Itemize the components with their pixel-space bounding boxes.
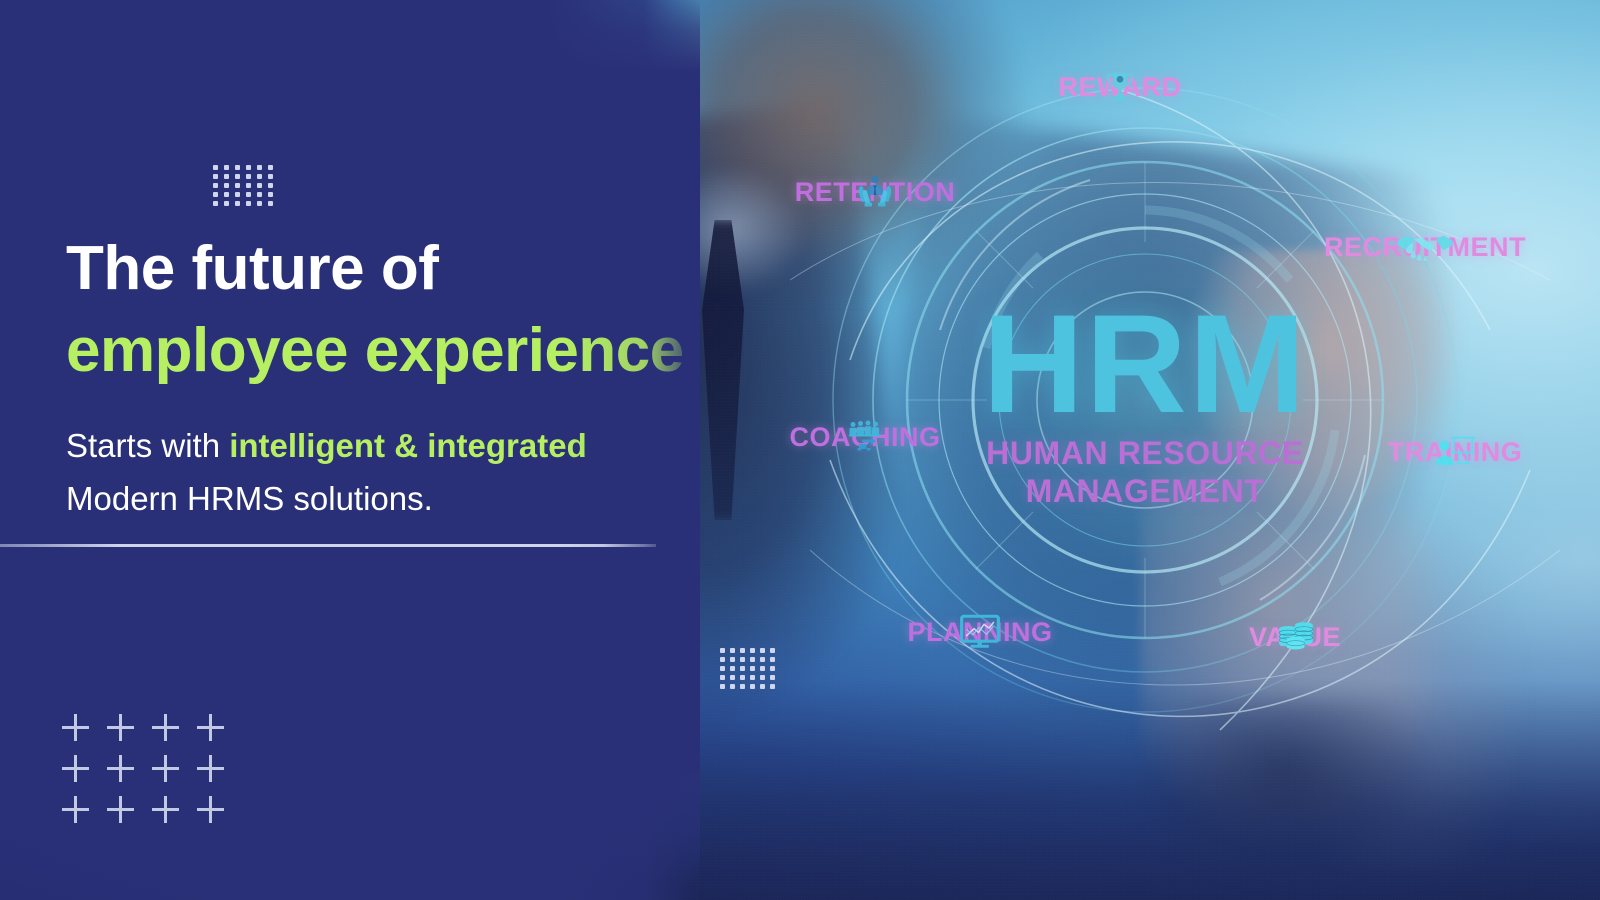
dot-grid-icon [720,648,780,693]
hud-node-reward: REWARD [990,70,1250,103]
dot-grid-icon [213,165,279,210]
hud-node-value: VALUE [1175,620,1415,653]
divider [0,544,656,547]
subtitle-suffix: Modern HRMS solutions. [66,480,433,517]
headline-line-1: The future of [66,234,438,303]
plus-grid-icon [62,714,242,837]
subtitle-accent: intelligent & integrated [229,427,587,464]
hero-banner: REWARD RECRUITMENT [0,0,1600,900]
subtitle-prefix: Starts with [66,427,229,464]
hud-node-training: TRAINING [1315,435,1595,468]
hud-node-coaching: COACHING [720,420,1010,453]
left-panel-content: The future of employee experience Starts… [0,0,700,900]
hud-node-retention: RETENTION [735,175,1015,208]
hrm-hud-graphic: REWARD RECRUITMENT [790,30,1580,820]
hud-node-recruitment: RECRUITMENT [1260,230,1590,263]
hud-node-planning: PLANNING [840,615,1120,648]
